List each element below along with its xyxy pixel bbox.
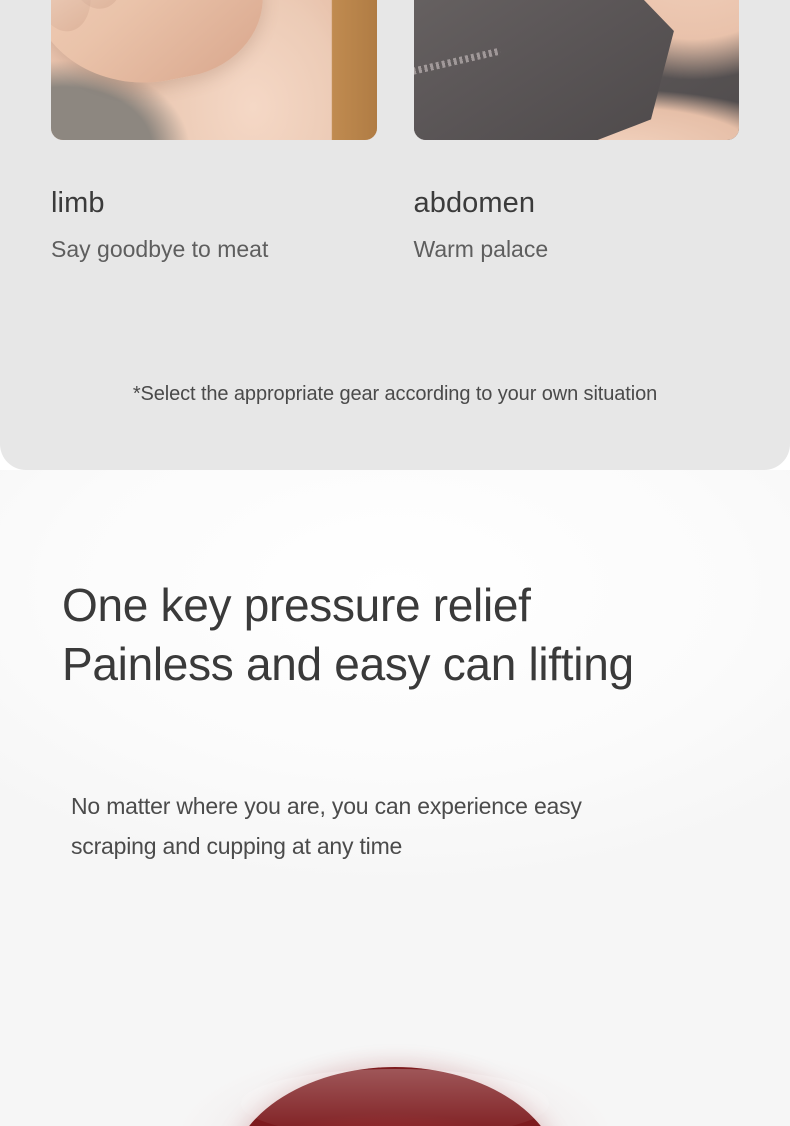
usage-card-limb bbox=[51, 0, 377, 140]
usage-title-abdomen: abdomen bbox=[414, 188, 740, 220]
product-detail-page: limb Say goodbye to meat abdomen Warm pa… bbox=[0, 0, 790, 1126]
usage-title-limb: limb bbox=[51, 188, 377, 220]
gear-selection-note: *Select the appropriate gear according t… bbox=[0, 383, 790, 406]
section-headline: One key pressure relief Painless and eas… bbox=[62, 576, 634, 694]
limb-usage-photo bbox=[51, 0, 377, 140]
hand-shape bbox=[51, 0, 276, 103]
caption-column-abdomen: abdomen Warm palace bbox=[414, 188, 740, 262]
pressure-relief-section: One key pressure relief Painless and eas… bbox=[0, 470, 790, 1126]
abdomen-usage-photo bbox=[414, 0, 740, 140]
caption-column-limb: limb Say goodbye to meat bbox=[51, 188, 377, 262]
usage-scenarios-panel: limb Say goodbye to meat abdomen Warm pa… bbox=[0, 0, 790, 470]
usage-subtitle-limb: Say goodbye to meat bbox=[51, 236, 377, 262]
seam-stitching bbox=[414, 47, 502, 81]
legging-shape bbox=[414, 0, 674, 140]
section-subcopy: No matter where you are, you can experie… bbox=[71, 787, 721, 866]
usage-subtitle-abdomen: Warm palace bbox=[414, 236, 740, 262]
usage-card-abdomen bbox=[414, 0, 740, 140]
usage-cards-row bbox=[51, 0, 739, 140]
usage-captions-row: limb Say goodbye to meat abdomen Warm pa… bbox=[51, 188, 739, 262]
